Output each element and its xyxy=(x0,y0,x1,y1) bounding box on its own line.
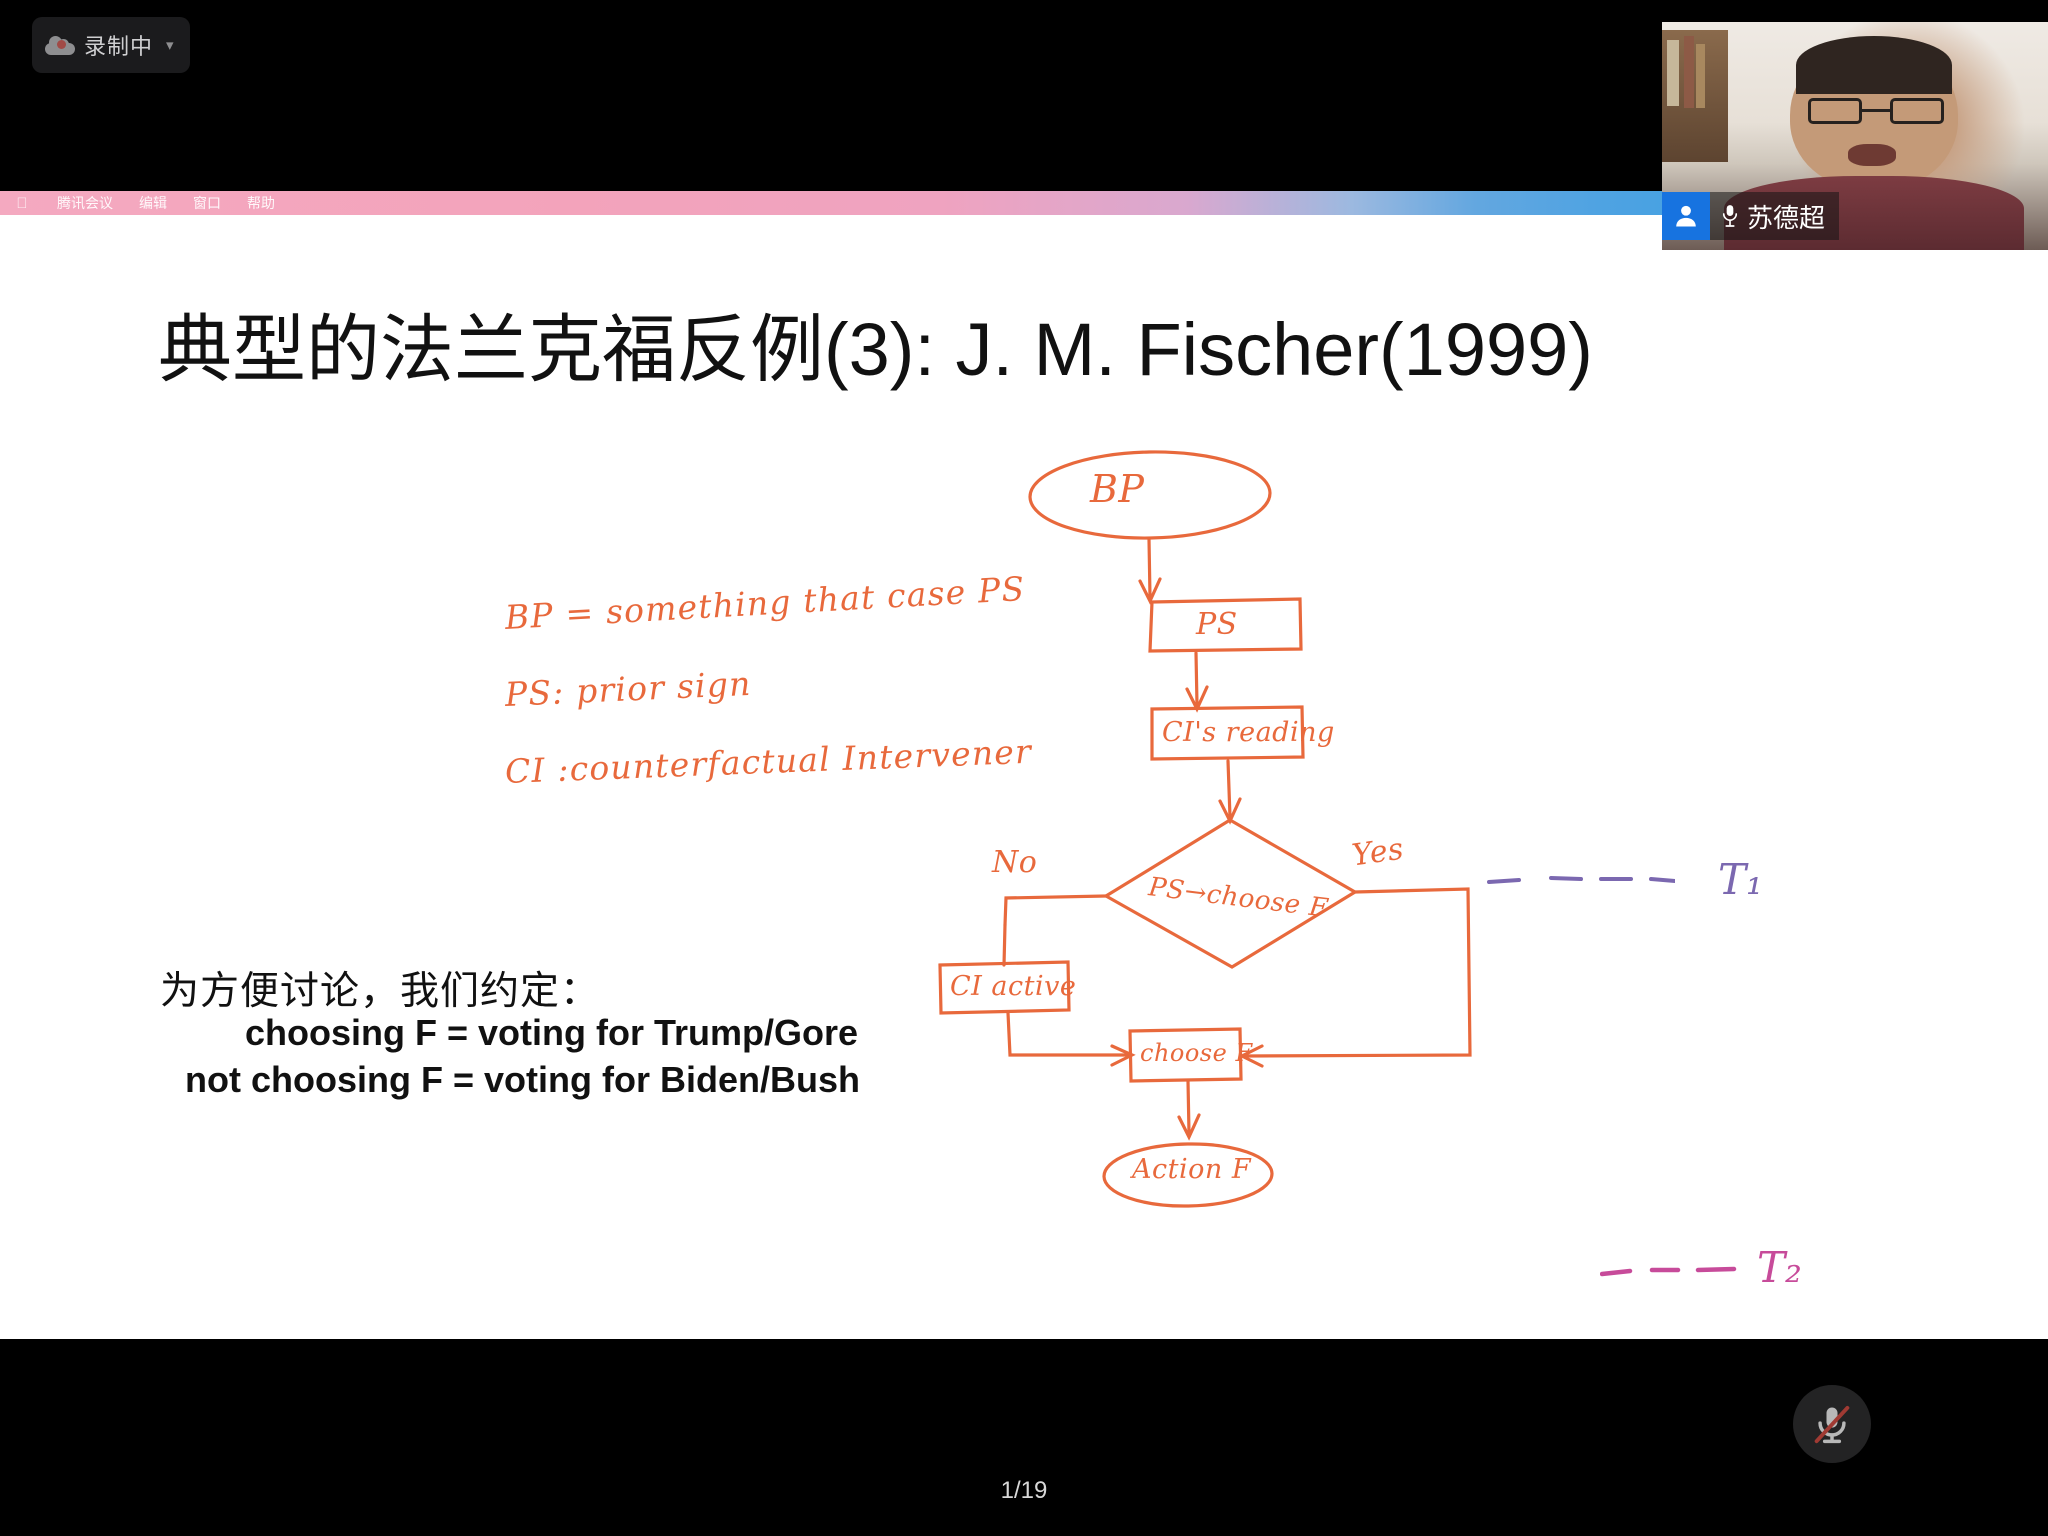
body-text-chinese: 为方便讨论，我们约定： xyxy=(160,960,600,1016)
edge-label-no: No xyxy=(992,845,1037,880)
person-icon xyxy=(1662,192,1710,240)
participant-name-badge: 苏德超 xyxy=(1662,192,1839,240)
edge-label-yes: Yes xyxy=(1350,832,1406,874)
recording-indicator[interactable]: 录制中 ▾ xyxy=(32,17,190,73)
glasses-icon xyxy=(1808,98,1944,124)
participant-hair xyxy=(1796,36,1952,94)
flowchart: BP PS CI's reading PS→choose F CI active… xyxy=(900,365,1900,1315)
menu-item-edit[interactable]: 编辑 xyxy=(126,193,180,213)
time-mark-t2: T₂ xyxy=(1757,1243,1802,1292)
edge-reading-decision xyxy=(1228,761,1230,817)
menu-item-app[interactable]: 腾讯会议 xyxy=(44,193,126,213)
chevron-down-icon[interactable]: ▾ xyxy=(166,36,174,54)
participant-mouth xyxy=(1848,144,1896,166)
node-reading-label: CI's reading xyxy=(1162,717,1335,748)
bookshelf xyxy=(1662,30,1728,162)
node-bp-label: BP xyxy=(1090,467,1145,511)
node-ps-label: PS xyxy=(1196,607,1238,642)
page-indicator: 1/19 xyxy=(0,1477,2048,1505)
dash-line-t1 xyxy=(1485,870,1675,890)
edge-ps-reading xyxy=(1196,653,1197,705)
meeting-window: 录制中 ▾  腾讯会议 编辑 窗口 帮助 ▤ ⏵ A A拼 典型的法兰克福反例… xyxy=(0,0,2048,1536)
edge-choosef-actionf xyxy=(1188,1081,1189,1133)
participant-name: 苏德超 xyxy=(1747,198,1825,235)
edge-bp-ps xyxy=(1149,539,1150,597)
apple-logo-icon[interactable]:  xyxy=(0,195,44,212)
edge-no-to-ciactive xyxy=(1004,925,1005,965)
dash-line-t2 xyxy=(1600,1262,1750,1282)
presentation-slide: 典型的法兰克福反例(3): J. M. Fischer(1999) BP = s… xyxy=(0,215,2048,1339)
microphone-muted-icon xyxy=(1810,1402,1854,1446)
node-ci-active-label: CI active xyxy=(950,971,1076,1002)
mute-toggle-button[interactable] xyxy=(1793,1385,1871,1463)
participant-video-tile[interactable]: 苏德超 xyxy=(1662,22,2048,250)
time-mark-t1: T₁ xyxy=(1718,855,1763,904)
edge-ciactive-down xyxy=(1008,1013,1128,1055)
node-bp-shape xyxy=(1029,450,1270,540)
node-action-f-label: Action F xyxy=(1132,1154,1251,1185)
menu-item-help[interactable]: 帮助 xyxy=(234,193,288,213)
name-badge-body: 苏德超 xyxy=(1710,192,1839,240)
node-choose-f-label: choose F xyxy=(1140,1039,1253,1067)
body-text-choosing: choosing F = voting for Trump/Gore xyxy=(245,1012,858,1054)
microphone-icon xyxy=(1720,203,1740,229)
body-text-not-choosing: not choosing F = voting for Biden/Bush xyxy=(185,1059,860,1101)
menu-item-window[interactable]: 窗口 xyxy=(180,193,234,213)
edge-decision-no xyxy=(1005,896,1106,925)
recording-label: 录制中 xyxy=(84,29,153,61)
cloud-record-icon xyxy=(45,35,75,55)
